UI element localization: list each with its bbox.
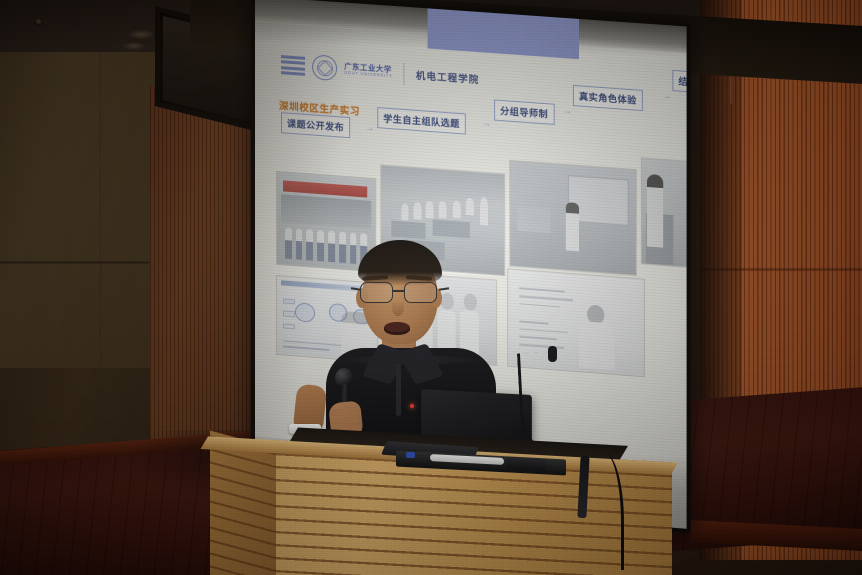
student-figure (439, 201, 447, 219)
student-figure (401, 203, 409, 221)
blue-usb-device (406, 452, 415, 458)
glasses-temple-left (351, 287, 361, 290)
glasses-bridge (393, 290, 404, 292)
photo-student-seated-at-desk (642, 158, 687, 266)
ceiling-downlight (122, 42, 146, 50)
standing-person (565, 203, 579, 252)
storefront (281, 194, 371, 228)
text-line (519, 343, 564, 348)
diagram-node (295, 302, 315, 322)
laptop-power-led (410, 404, 414, 408)
ceiling-sprinkler (36, 19, 41, 24)
student-figure (413, 202, 421, 220)
flow-arrow-2: → (482, 119, 491, 129)
mouth (384, 322, 410, 335)
diagram-chip (283, 298, 295, 304)
text-line (519, 320, 549, 324)
ceiling-downlight (128, 30, 154, 39)
office-partition (518, 205, 551, 233)
text-line (519, 295, 573, 301)
text-line (519, 303, 560, 308)
flow-step-2: 学生自主组队选题 (377, 107, 466, 134)
lecture-hall-photo: 广东工业大学 GDUT UNIVERSITY 机电工程学院 深圳校区生产实习 课… (0, 0, 862, 575)
person-figure (296, 229, 303, 261)
lens-left (360, 282, 393, 303)
gooseneck-microphone-capsule (548, 346, 557, 362)
glasses-temple-right (439, 287, 449, 290)
microphone-base (506, 457, 546, 471)
text-line (519, 328, 568, 333)
flow-step-3: 分组导师制 (494, 99, 554, 124)
photo-student-presenting-in-office (510, 161, 636, 275)
student-figure (466, 198, 474, 216)
person-figure (306, 229, 313, 261)
student-figure (480, 197, 488, 226)
flow-arrow-3: → (563, 106, 572, 116)
diagram-chip (283, 323, 295, 329)
text-line (519, 336, 557, 341)
text-line (519, 287, 565, 292)
speaker-body (579, 321, 614, 370)
shirt-placket (396, 364, 401, 416)
student-figure (452, 201, 460, 219)
desk (391, 220, 425, 239)
lens-right (404, 282, 437, 303)
student-figure (425, 201, 433, 219)
seated-person (647, 173, 663, 248)
nose (392, 300, 404, 316)
person-figure (285, 228, 292, 260)
flow-step-5: 结题答辩 (672, 70, 686, 95)
desk (433, 219, 470, 238)
flow-step-4: 真实角色体验 (573, 85, 643, 111)
flow-arrow-1: → (365, 123, 374, 133)
flow-arrow-4: → (662, 91, 671, 101)
diagram-chip (283, 311, 295, 317)
